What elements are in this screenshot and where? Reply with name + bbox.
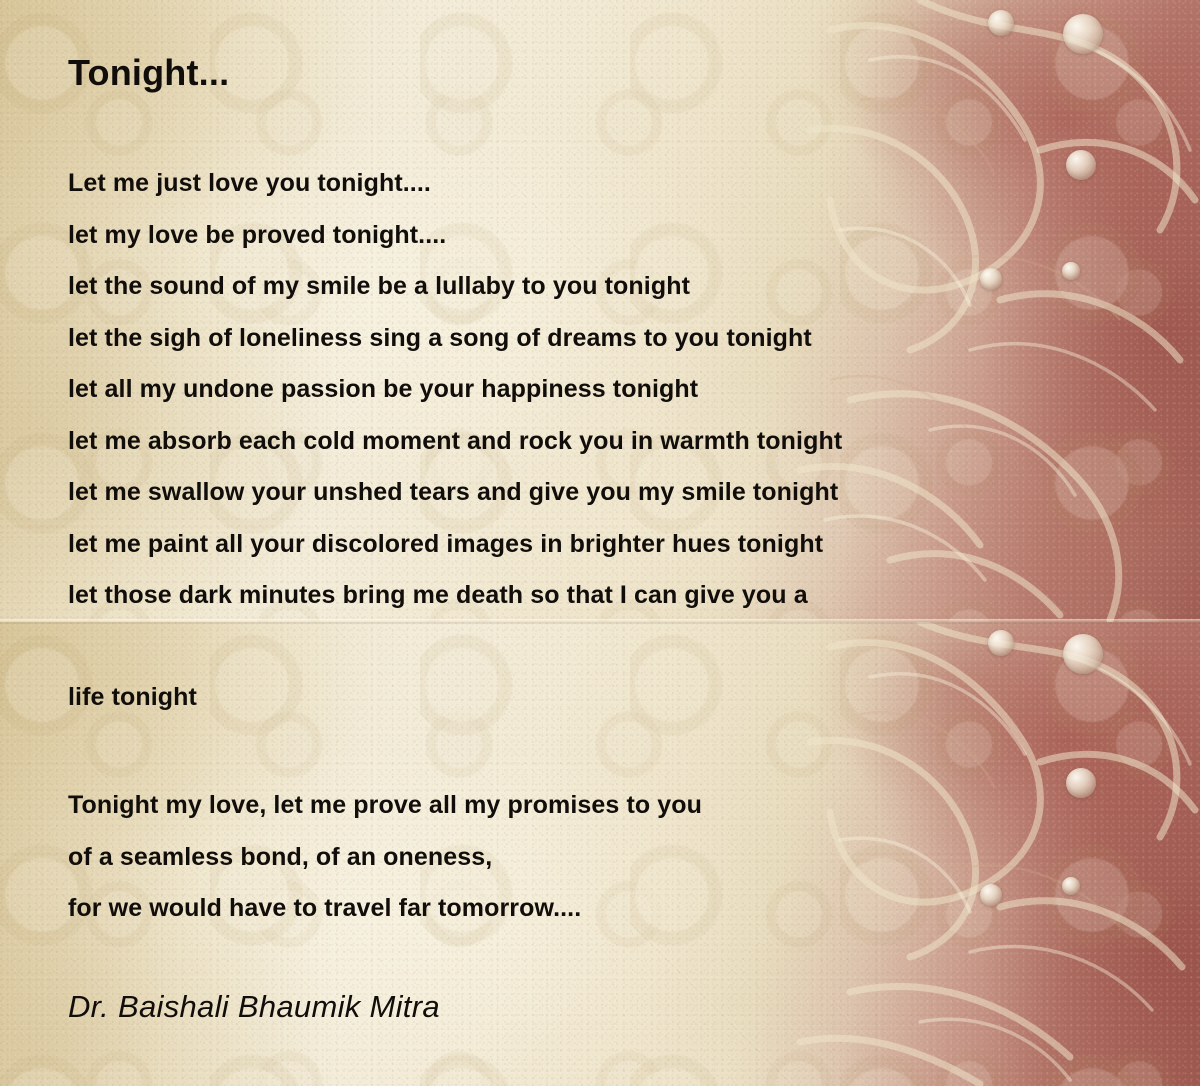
poem-line: life tonight — [68, 672, 197, 724]
poem-stanza-three: Tonight my love, let me prove all my pro… — [68, 780, 702, 935]
poem-author: Dr. Baishali Bhaumik Mitra — [68, 989, 440, 1025]
poem-line: let my love be proved tonight.... — [68, 210, 842, 262]
poem-line: of a seamless bond, of an oneness, — [68, 832, 702, 884]
poem-line: let the sound of my smile be a lullaby t… — [68, 261, 842, 313]
poem-page: Tonight... Let me just love you tonight.… — [0, 0, 1200, 1086]
poem-line: Let me just love you tonight.... — [68, 158, 842, 210]
poem-line: let the sigh of loneliness sing a song o… — [68, 313, 842, 365]
poem-line: let me paint all your discolored images … — [68, 519, 842, 571]
poem-line: let those dark minutes bring me death so… — [68, 570, 842, 622]
poem-title: Tonight... — [68, 52, 229, 94]
poem-line: Tonight my love, let me prove all my pro… — [68, 780, 702, 832]
poem-stanza-two: life tonight — [68, 672, 197, 724]
poem-line: let me swallow your unshed tears and giv… — [68, 467, 842, 519]
poem-line: let all my undone passion be your happin… — [68, 364, 842, 416]
poem-line: for we would have to travel far tomorrow… — [68, 883, 702, 935]
poem-content: Tonight... Let me just love you tonight.… — [0, 0, 1200, 1086]
poem-stanza-one: Let me just love you tonight.... let my … — [68, 158, 842, 622]
poem-line: let me absorb each cold moment and rock … — [68, 416, 842, 468]
